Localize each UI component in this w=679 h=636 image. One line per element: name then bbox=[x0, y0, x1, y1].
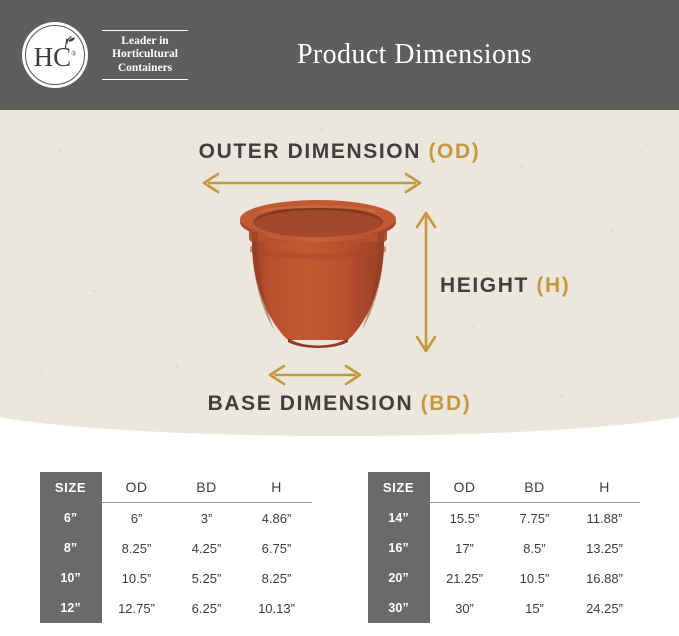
texture-speck bbox=[520, 165, 523, 168]
cell-bd: 10.5” bbox=[500, 563, 570, 593]
texture-speck bbox=[470, 325, 475, 327]
column-header-size: SIZE bbox=[368, 472, 430, 503]
outer-dimension-arrow-icon bbox=[196, 172, 428, 194]
column-header-h: H bbox=[242, 472, 312, 503]
cell-h: 4.86” bbox=[242, 503, 312, 534]
cell-bd: 8.5” bbox=[500, 533, 570, 563]
table-row: 12” 12.75” 6.25” 10.13” bbox=[40, 593, 312, 623]
cell-h: 8.25” bbox=[242, 563, 312, 593]
cell-bd: 15” bbox=[500, 593, 570, 623]
height-text: HEIGHT bbox=[440, 274, 529, 297]
column-header-od: OD bbox=[102, 472, 172, 503]
product-dimensions-infographic: Product Dimensions HC® Leader in Horticu… bbox=[0, 0, 679, 636]
cell-size: 20” bbox=[368, 563, 430, 593]
table-row: 10” 10.5” 5.25” 8.25” bbox=[40, 563, 312, 593]
texture-speck bbox=[40, 370, 43, 372]
base-dimension-code: (BD) bbox=[421, 392, 472, 415]
logo-monogram-text: HC bbox=[34, 42, 72, 72]
base-dimension-text: BASE DIMENSION bbox=[208, 392, 414, 415]
cell-size: 8” bbox=[40, 533, 102, 563]
cell-bd: 6.25” bbox=[172, 593, 242, 623]
logo-tagline-line3: Containers bbox=[102, 62, 188, 76]
cell-od: 15.5” bbox=[430, 503, 500, 534]
height-label: HEIGHT (H) bbox=[440, 274, 570, 298]
column-header-bd: BD bbox=[172, 472, 242, 503]
cell-od: 6” bbox=[102, 503, 172, 534]
cell-h: 24.25” bbox=[570, 593, 640, 623]
table-row: 6” 6” 3” 4.86” bbox=[40, 503, 312, 534]
column-header-size: SIZE bbox=[40, 472, 102, 503]
base-dimension-arrow-icon bbox=[262, 364, 368, 386]
registered-mark: ® bbox=[71, 50, 76, 58]
logo-tagline-line2: Horticultural bbox=[102, 48, 188, 62]
cell-od: 10.5” bbox=[102, 563, 172, 593]
cell-h: 13.25” bbox=[570, 533, 640, 563]
outer-dimension-code: (OD) bbox=[428, 140, 480, 163]
height-code: (H) bbox=[536, 274, 570, 297]
logo-tagline-line1: Leader in bbox=[102, 35, 188, 49]
column-header-bd: BD bbox=[500, 472, 570, 503]
table-row: 8” 8.25” 4.25” 6.75” bbox=[40, 533, 312, 563]
table-row: 30” 30” 15” 24.25” bbox=[368, 593, 640, 623]
table-row: 16” 17” 8.5” 13.25” bbox=[368, 533, 640, 563]
header-bar: Product Dimensions HC® Leader in Horticu… bbox=[0, 0, 679, 110]
cell-h: 11.88” bbox=[570, 503, 640, 534]
texture-speck bbox=[175, 365, 178, 368]
cell-h: 16.88” bbox=[570, 563, 640, 593]
cell-size: 12” bbox=[40, 593, 102, 623]
cell-size: 16” bbox=[368, 533, 430, 563]
cell-size: 10” bbox=[40, 563, 102, 593]
column-header-od: OD bbox=[430, 472, 500, 503]
table-header-row: SIZE OD BD H bbox=[40, 472, 312, 503]
cell-bd: 3” bbox=[172, 503, 242, 534]
cell-h: 6.75” bbox=[242, 533, 312, 563]
cell-od: 17” bbox=[430, 533, 500, 563]
diagram-panel: OUTER DIMENSION (OD) bbox=[0, 110, 679, 440]
cell-od: 12.75” bbox=[102, 593, 172, 623]
dimension-tables: SIZE OD BD H 6” 6” 3” 4.86” 8” 8.25” 4.2… bbox=[0, 472, 679, 623]
flower-pot-illustration bbox=[228, 198, 408, 368]
outer-dimension-text: OUTER DIMENSION bbox=[199, 140, 421, 163]
logo-tagline: Leader in Horticultural Containers bbox=[102, 30, 188, 81]
cell-size: 14” bbox=[368, 503, 430, 534]
texture-speck bbox=[150, 132, 152, 134]
column-header-h: H bbox=[570, 472, 640, 503]
dimension-table-small: SIZE OD BD H 6” 6” 3” 4.86” 8” 8.25” 4.2… bbox=[40, 472, 312, 623]
cell-bd: 5.25” bbox=[172, 563, 242, 593]
cell-bd: 4.25” bbox=[172, 533, 242, 563]
dimension-table-large: SIZE OD BD H 14” 15.5” 7.75” 11.88” 16” … bbox=[368, 472, 640, 623]
texture-speck bbox=[92, 290, 96, 292]
texture-speck bbox=[610, 230, 613, 232]
base-dimension-label: BASE DIMENSION (BD) bbox=[0, 392, 679, 416]
cell-od: 30” bbox=[430, 593, 500, 623]
cell-bd: 7.75” bbox=[500, 503, 570, 534]
cell-od: 21.25” bbox=[430, 563, 500, 593]
table-row: 20” 21.25” 10.5” 16.88” bbox=[368, 563, 640, 593]
brand-logo: HC® Leader in Horticultural Containers bbox=[22, 22, 188, 88]
cell-h: 10.13” bbox=[242, 593, 312, 623]
outer-dimension-label: OUTER DIMENSION (OD) bbox=[0, 140, 679, 164]
table-header-row: SIZE OD BD H bbox=[368, 472, 640, 503]
logo-circle-icon: HC® bbox=[22, 22, 88, 88]
height-arrow-icon bbox=[415, 206, 437, 358]
cell-size: 30” bbox=[368, 593, 430, 623]
texture-speck bbox=[320, 128, 324, 130]
logo-monogram: HC® bbox=[34, 44, 77, 71]
cell-size: 6” bbox=[40, 503, 102, 534]
cell-od: 8.25” bbox=[102, 533, 172, 563]
table-row: 14” 15.5” 7.75” 11.88” bbox=[368, 503, 640, 534]
